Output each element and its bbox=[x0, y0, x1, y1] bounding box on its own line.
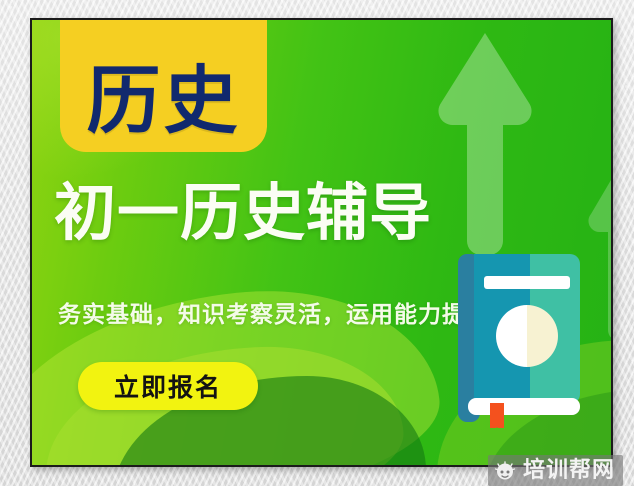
course-promo-banner: 历史 初一历史辅导 务实基础，知识考察灵活，运用能力提升 立即报名 bbox=[32, 20, 611, 465]
banner-frame: 历史 初一历史辅导 务实基础，知识考察灵活，运用能力提升 立即报名 bbox=[30, 18, 613, 467]
book-icon bbox=[452, 248, 592, 428]
sun-face-icon bbox=[494, 461, 516, 481]
enroll-now-button-label: 立即报名 bbox=[114, 368, 222, 404]
banner-subtitle: 务实基础，知识考察灵活，运用能力提升 bbox=[58, 295, 490, 329]
enroll-now-button[interactable]: 立即报名 bbox=[78, 362, 258, 410]
subject-badge-label: 历史 bbox=[87, 64, 241, 138]
watermark-text: 培训帮网 bbox=[523, 460, 615, 482]
arrow-up-icon bbox=[437, 29, 533, 259]
subject-badge: 历史 bbox=[60, 20, 267, 152]
watermark: 培训帮网 bbox=[488, 455, 623, 486]
bookmark-icon bbox=[490, 403, 504, 428]
banner-headline: 初一历史辅导 bbox=[54, 180, 432, 245]
